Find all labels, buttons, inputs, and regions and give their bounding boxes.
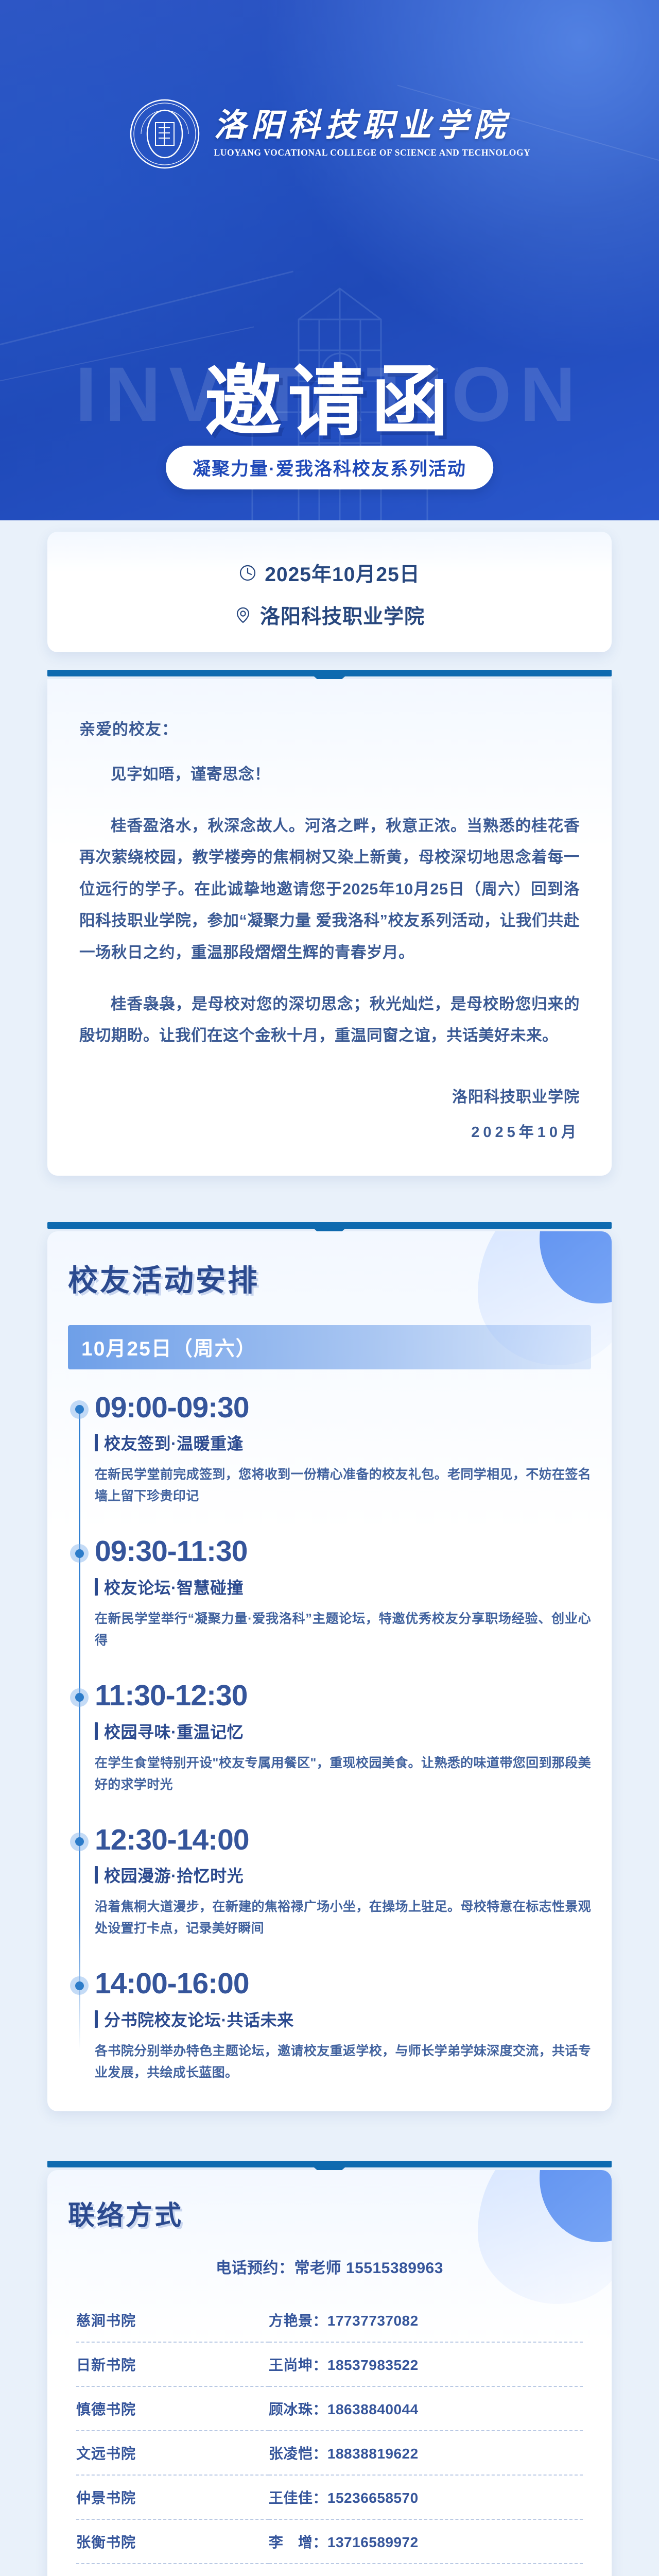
schedule-timeline: 09:00-09:30 校友签到·温暖重逢 在新民学堂前完成签到，您将收到一份精… (47, 1369, 612, 2111)
letter-tab-decoration (47, 670, 612, 679)
schedule-day-label: 10月25日（周六） (81, 1338, 257, 1360)
table-row: 文远书院 张凌恺：18838819622 (76, 2431, 583, 2475)
timeline-description: 在学生食堂特别开设"校友专属用餐区"，重现校园美食。让熟悉的味道带您回到那段美好… (95, 1752, 591, 1795)
event-meta-card: 2025年10月25日 洛阳科技职业学院 (47, 532, 612, 652)
house-name: 文远书院 (76, 2431, 269, 2475)
table-row: 慈涧书院 方艳景：17737737082 (76, 2298, 583, 2342)
timeline-time: 09:00-09:30 (95, 1392, 591, 1424)
timeline-item[interactable]: 09:00-09:30 校友签到·温暖重逢 在新民学堂前完成签到，您将收到一份精… (95, 1392, 591, 1507)
invitation-poster: 洛阳科技职业学院 LUOYANG VOCATIONAL COLLEGE OF S… (0, 0, 659, 2576)
timeline-item[interactable]: 12:30-14:00 校园漫游·拾忆时光 沿着焦桐大道漫步，在新建的焦裕禄广场… (95, 1824, 591, 1940)
timeline-description: 各书院分别举办特色主题论坛，邀请校友重返学校，与师长学弟学妹深度交流，共话专业发… (95, 2040, 591, 2083)
timeline-dot-icon (70, 1688, 89, 1707)
timeline-time: 09:30-11:30 (95, 1536, 591, 1568)
house-name: 日新书院 (76, 2342, 269, 2386)
timeline-description: 沿着焦桐大道漫步，在新建的焦裕禄广场小坐，在操场上驻足。母校特意在标志性景观处设… (95, 1896, 591, 1939)
contact-table: 慈涧书院 方艳景：17737737082 日新书院 王尚坤：1853798352… (76, 2298, 583, 2576)
event-location: 洛阳科技职业学院 (260, 601, 425, 630)
letter-greeting: 亲爱的校友： (79, 716, 580, 739)
table-row: 慎德书院 顾冰珠：18638840044 (76, 2386, 583, 2431)
letter-paragraph: 桂香袅袅，是母校对您的深切思念；秋光灿烂，是母校盼您归来的殷切期盼。让我们在这个… (79, 989, 580, 1052)
timeline-description: 在新民学堂举行“凝聚力量·爱我洛科”主题论坛，特邀优秀校友分享职场经验、创业心得 (95, 1608, 591, 1651)
schedule-tab-decoration (47, 1222, 612, 1231)
clock-icon (239, 564, 256, 582)
timeline-item[interactable]: 11:30-12:30 校园寻味·重温记忆 在学生食堂特别开设"校友专属用餐区"… (95, 1680, 591, 1795)
letter-signature-date: 2025年10月 (79, 1120, 580, 1142)
timeline-time: 14:00-16:00 (95, 1968, 591, 2000)
location-pin-icon (234, 606, 252, 624)
event-meta-section: 2025年10月25日 洛阳科技职业学院 (0, 520, 659, 652)
event-slogan-badge: 凝聚力量·爱我洛科校友系列活动 (166, 446, 493, 489)
schedule-title: 校友活动安排 (68, 1256, 612, 1299)
timeline-subtitle: 校园漫游·拾忆时光 (104, 1863, 244, 1887)
contact-card: 联络方式 电话预约：常老师 15515389963 慈涧书院 方艳景：17737… (47, 2170, 612, 2576)
tab-bar (47, 2161, 612, 2167)
letter-paragraph: 见字如晤，谨寄思念！ (79, 759, 580, 791)
timeline-description: 在新民学堂前完成签到，您将收到一份精心准备的校友礼包。老同学相见，不妨在签名墙上… (95, 1464, 591, 1507)
schedule-day-band: 10月25日（周六） (68, 1325, 591, 1369)
schedule-card: 校友活动安排 10月25日（周六） 09:00-09:30 校友签到·温暖重逢 … (47, 1231, 612, 2111)
house-contact[interactable]: 方艳景：17737737082 (269, 2298, 583, 2342)
timeline-subtitle: 校友签到·温暖重逢 (104, 1431, 244, 1454)
booking-phone-line[interactable]: 电话预约：常老师 15515389963 (76, 2255, 583, 2278)
house-name: 张衡书院 (76, 2519, 269, 2564)
timeline-time: 12:30-14:00 (95, 1824, 591, 1856)
school-seal-icon (129, 98, 201, 170)
timeline-item[interactable]: 09:30-11:30 校友论坛·智慧碰撞 在新民学堂举行“凝聚力量·爱我洛科”… (95, 1536, 591, 1651)
contact-tab-decoration (47, 2161, 612, 2170)
timeline-subtitle: 校园寻味·重温记忆 (104, 1719, 244, 1743)
table-row: 张衡书院 李 增：13716589972 (76, 2519, 583, 2564)
school-name-cn: 洛阳科技职业学院 (214, 110, 511, 142)
event-date: 2025年10月25日 (265, 558, 420, 587)
house-contact[interactable]: 张凌恺：18838819622 (269, 2431, 583, 2475)
tab-bar (47, 670, 612, 676)
house-name: 仲景书院 (76, 2475, 269, 2519)
house-name: 慈涧书院 (76, 2298, 269, 2342)
invitation-letter-card: 亲爱的校友： 见字如晤，谨寄思念！ 桂香盈洛水，秋深念故人。河洛之畔，秋意正浓。… (47, 679, 612, 1176)
letter-paragraph: 桂香盈洛水，秋深念故人。河洛之畔，秋意正浓。当熟悉的桂花香再次萦绕校园，教学楼旁… (79, 810, 580, 969)
table-row: 鲁班书院 王俊姣：13015550140 (76, 2564, 583, 2576)
table-row: 仲景书院 王佳佳：15236658570 (76, 2475, 583, 2519)
house-name: 慎德书院 (76, 2386, 269, 2431)
table-row: 日新书院 王尚坤：18537983522 (76, 2342, 583, 2386)
house-contact[interactable]: 李 增：13716589972 (269, 2519, 583, 2564)
hero-banner: 洛阳科技职业学院 LUOYANG VOCATIONAL COLLEGE OF S… (0, 0, 659, 520)
house-contact[interactable]: 王尚坤：18537983522 (269, 2342, 583, 2386)
letter-signature: 洛阳科技职业学院 (79, 1084, 580, 1107)
house-contact[interactable]: 王佳佳：15236658570 (269, 2475, 583, 2519)
timeline-item[interactable]: 14:00-16:00 分书院校友论坛·共话未来 各书院分别举办特色主题论坛，邀… (95, 1968, 591, 2083)
school-name-en: LUOYANG VOCATIONAL COLLEGE OF SCIENCE AN… (214, 147, 531, 158)
school-logo: 洛阳科技职业学院 LUOYANG VOCATIONAL COLLEGE OF S… (0, 98, 659, 170)
house-contact[interactable]: 顾冰珠：18638840044 (269, 2386, 583, 2431)
timeline-rail (79, 1410, 80, 2049)
timeline-dot-icon (70, 1833, 89, 1851)
house-name: 鲁班书院 (76, 2564, 269, 2576)
contact-title: 联络方式 (68, 2194, 612, 2232)
timeline-dot-icon (70, 1400, 89, 1419)
page-title: 邀请函 (0, 361, 659, 443)
event-date-row: 2025年10月25日 (47, 558, 612, 587)
event-location-row: 洛阳科技职业学院 (47, 601, 612, 630)
tab-bar (47, 1222, 612, 1229)
timeline-subtitle: 分书院校友论坛·共话未来 (104, 2007, 294, 2031)
timeline-dot-icon (70, 1544, 89, 1563)
timeline-dot-icon (70, 1976, 89, 1995)
timeline-time: 11:30-12:30 (95, 1680, 591, 1712)
timeline-subtitle: 校友论坛·智慧碰撞 (104, 1575, 244, 1599)
house-contact[interactable]: 王俊姣：13015550140 (269, 2564, 583, 2576)
